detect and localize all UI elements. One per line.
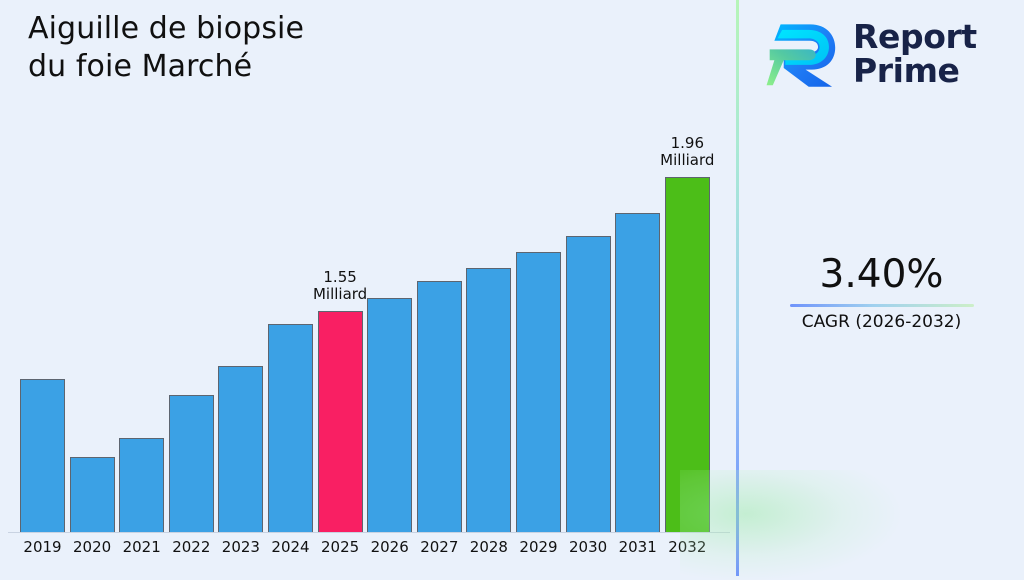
bar-2029 — [516, 252, 561, 532]
bar-2025 — [318, 311, 363, 532]
chart-panel: Aiguille de biopsie du foie Marché 1.55 … — [0, 0, 736, 576]
bar-2026 — [367, 298, 412, 532]
bar-2024 — [268, 324, 313, 532]
x-axis-line — [8, 532, 730, 533]
cagr-block: 3.40% CAGR (2026-2032) — [739, 252, 1024, 333]
bar-2030 — [566, 236, 611, 532]
bar-2022 — [169, 395, 214, 532]
bar-2020 — [70, 457, 115, 532]
bar-2019 — [20, 379, 65, 532]
bar-value-label-2032: 1.96 Milliard — [627, 135, 747, 169]
summary-panel: Report Prime 3.40% CAGR (2026-2032) — [739, 0, 1024, 576]
cagr-value: 3.40% — [739, 252, 1024, 298]
brand-logo: Report Prime — [765, 12, 1011, 96]
bar-2028 — [466, 268, 511, 532]
bar-2031 — [615, 213, 660, 532]
brand-name: Report Prime — [853, 20, 977, 88]
chart-screenshot: Aiguille de biopsie du foie Marché 1.55 … — [0, 0, 1024, 576]
bar-value-label-2025: 1.55 Milliard — [280, 269, 400, 303]
bar-chart-plot: 1.55 Milliard1.96 Milliard 2019202020212… — [0, 0, 736, 576]
x-tick-2032: 2032 — [657, 538, 717, 556]
cagr-divider-rule — [790, 304, 974, 307]
bar-2032 — [665, 177, 710, 532]
bar-2023 — [218, 366, 263, 532]
bar-2021 — [119, 438, 164, 532]
report-prime-r-mark-icon — [765, 15, 843, 93]
cagr-label: CAGR (2026-2032) — [739, 311, 1024, 333]
bar-2027 — [417, 281, 462, 532]
